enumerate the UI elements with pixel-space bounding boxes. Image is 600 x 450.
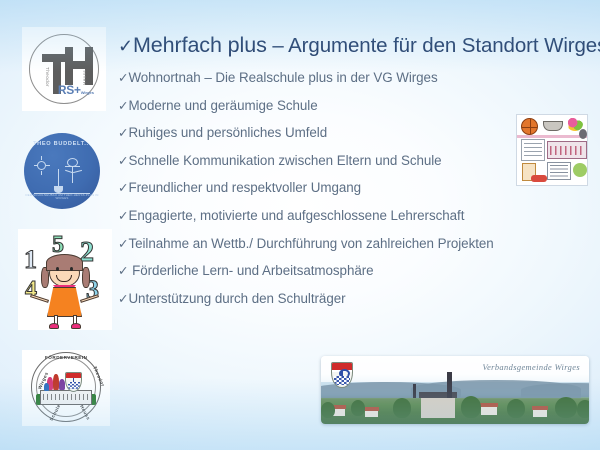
coat-of-arms-body <box>65 372 82 392</box>
girl-shoe-right <box>71 323 81 329</box>
check-icon: ✓ <box>118 264 128 278</box>
girl-eye-right <box>70 267 73 271</box>
car-drawing <box>531 175 547 182</box>
church-nave <box>421 396 455 418</box>
list-item: ✓Unterstützung durch den Schulträger <box>118 291 590 319</box>
town-panorama-photo <box>321 382 589 424</box>
list-item: ✓Teilnahme an Wettb./ Durchführung von z… <box>118 236 590 264</box>
number-1: 1 <box>24 245 37 275</box>
shovel-handle <box>58 169 59 187</box>
grey-shape-drawing <box>579 129 587 139</box>
list-item-label: Förderliche Lern- und Arbeitsatmosphäre <box>128 263 373 278</box>
school-logo-th: Theodor Heuss RS+Wirges <box>22 27 106 111</box>
vg-coat-of-arms <box>331 362 353 388</box>
notes-drawing <box>521 139 545 161</box>
house-roof <box>364 407 379 411</box>
girl-hair <box>46 254 83 271</box>
seal-arc-top: FÖRDERVEREIN <box>45 355 87 360</box>
house <box>481 406 497 415</box>
building-drawing <box>547 141 587 159</box>
sun-ray <box>41 156 42 160</box>
list-item-label: Teilnahme an Wettb./ Durchführung von za… <box>128 236 493 251</box>
logo-vertical-theodor: Theodor <box>45 67 50 87</box>
check-icon: ✓ <box>118 154 128 168</box>
vg-coat-of-arms-body <box>331 362 353 388</box>
list-item: ✓Engagierte, motivierte und aufgeschloss… <box>118 208 590 236</box>
check-icon: ✓ <box>118 36 133 56</box>
house <box>365 410 378 417</box>
theo-buddelt-logo: THEO BUDDELT... DER SCHULNEUBAU AM THEO-… <box>24 133 100 209</box>
check-icon: ✓ <box>118 181 128 195</box>
sun-icon <box>37 161 46 170</box>
banner-caption: Verbandsgemeinde Wirges <box>482 363 580 372</box>
logo-caption: THEO BUDDELT... <box>24 141 100 147</box>
list-item-label: Schnelle Kommunikation zwischen Eltern u… <box>128 153 441 168</box>
logo-subtitle-text: RS+ <box>58 83 81 97</box>
check-icon: ✓ <box>118 292 128 306</box>
sun-ray <box>41 171 42 175</box>
house-roof <box>480 403 498 407</box>
list-item-label: Wohnortnah – Die Realschule plus in der … <box>128 70 437 85</box>
girl-dress <box>47 287 82 317</box>
check-icon: ✓ <box>118 209 128 223</box>
green-shape-drawing <box>573 163 587 177</box>
coat-of-arms-checks <box>68 382 80 389</box>
check-icon: ✓ <box>118 71 128 85</box>
girl-eye-left <box>56 267 59 271</box>
worksheet-drawing <box>547 162 571 180</box>
tree <box>321 402 335 418</box>
tree <box>507 399 525 418</box>
check-icon: ✓ <box>118 237 128 251</box>
collage-pink-band <box>517 135 587 138</box>
list-item: ✓Wohnortnah – Die Realschule plus in der… <box>118 70 590 98</box>
page-title: ✓Mehrfach plus – Argumente für den Stand… <box>118 32 590 59</box>
logo-footer: DER SCHULNEUBAU AM THEO-HEUSS-PLUS IN WI… <box>24 194 100 201</box>
bullet-list: ✓Wohnortnah – Die Realschule plus in der… <box>118 70 590 318</box>
list-item: ✓ Förderliche Lern- und Arbeitsatmosphär… <box>118 263 590 291</box>
logo-subtitle-small: Wirges <box>81 90 94 95</box>
tree <box>577 400 589 418</box>
braid-right <box>82 267 90 288</box>
tree <box>461 396 481 418</box>
shovel-blade <box>54 186 63 193</box>
check-icon: ✓ <box>118 126 128 140</box>
slide-canvas: ✓Mehrfach plus – Argumente für den Stand… <box>0 0 600 450</box>
verbandsgemeinde-banner: Verbandsgemeinde Wirges <box>321 356 589 424</box>
school-building <box>40 390 92 405</box>
student-collage-image <box>516 114 588 186</box>
title-lead: Mehrfach plus <box>133 33 267 57</box>
girl-shoe-left <box>49 323 59 329</box>
hill <box>521 383 589 397</box>
sun-ray <box>46 165 50 166</box>
tree <box>351 400 365 416</box>
number-4: 4 <box>25 277 37 304</box>
basketball-icon <box>521 118 538 135</box>
list-item-label: Ruhiges und persönliches Umfeld <box>128 125 327 140</box>
numbers-girl-image: 1 5 2 4 3 <box>18 229 112 330</box>
list-item-label: Unterstützung durch den Schulträger <box>128 291 345 306</box>
foerderverein-seal: FÖRDERVEREIN Wirges Theodor Schule Heuss <box>22 350 110 426</box>
list-item-label: Engagierte, motivierte und aufgeschlosse… <box>128 208 464 223</box>
church-spire-small <box>413 384 416 398</box>
figure-body <box>72 167 73 183</box>
list-item-label: Freundlicher und respektvoller Umgang <box>128 180 361 195</box>
check-icon: ✓ <box>118 99 128 113</box>
tree <box>555 397 577 418</box>
pot-drawing <box>543 121 563 131</box>
letter-h-cross <box>65 61 93 69</box>
vg-coat-checks <box>334 376 350 385</box>
house-roof <box>532 406 548 410</box>
figure <box>44 383 49 391</box>
tree <box>393 398 411 418</box>
coat-of-arms <box>65 372 82 392</box>
house <box>533 409 547 417</box>
sun-ray <box>34 165 38 166</box>
title-rest: – Argumente für den Standort Wirges <box>267 34 600 57</box>
list-item-label: Moderne und geräumige Schule <box>128 98 317 113</box>
logo-subtitle: RS+Wirges <box>58 83 94 97</box>
church-spire-main <box>447 372 452 398</box>
